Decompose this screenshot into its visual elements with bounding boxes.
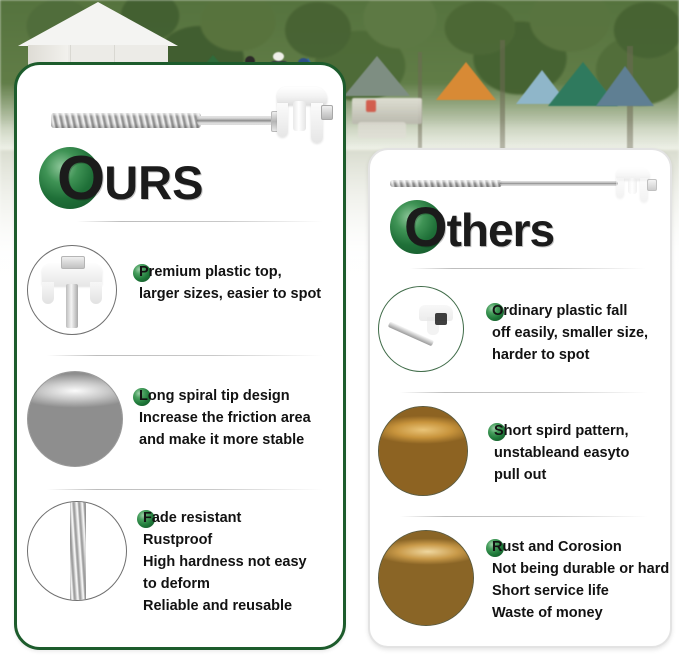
ours-feature-1-text: Premium plastic top, larger sizes, easie… xyxy=(139,264,321,302)
others-feature-1-text: Ordinary plastic fall off easily, smalle… xyxy=(492,303,648,363)
ours-card: OURS Premium plastic top, larger sizes, … xyxy=(14,62,346,650)
ours-title-initial: O xyxy=(57,144,104,213)
section-divider xyxy=(47,489,323,490)
ours-feature-2-text: Long spiral tip design Increase the fric… xyxy=(139,388,311,448)
others-feature-1: Ordinary plastic fall off easily, smalle… xyxy=(378,286,670,372)
others-title: Others xyxy=(390,192,660,260)
ours-title: OURS xyxy=(39,141,319,215)
others-card: Others Ordinary plastic fall off easily,… xyxy=(368,148,672,648)
rust-corrosion-thumbnail xyxy=(378,530,474,626)
camp-gear xyxy=(366,100,376,112)
tent-shape xyxy=(436,62,496,100)
ours-feature-2: Long spiral tip design Increase the fric… xyxy=(27,371,337,467)
others-feature-2: Short spird pattern, unstableand easyto … xyxy=(378,406,670,496)
white-t-handle-top-thumbnail xyxy=(27,245,117,335)
infographic-canvas: OURS Premium plastic top, larger sizes, … xyxy=(0,0,679,667)
tent-shape xyxy=(344,56,410,96)
section-divider xyxy=(400,392,648,393)
others-title-initial: O xyxy=(404,195,447,258)
tent-shape xyxy=(596,66,654,106)
others-feature-2-text: Short spird pattern, unstableand easyto … xyxy=(494,423,629,483)
section-divider xyxy=(410,268,646,269)
section-divider xyxy=(77,221,323,222)
ours-feature-3-text: Fade resistant Rustproof High hardness n… xyxy=(143,510,307,614)
section-divider xyxy=(400,516,648,517)
ours-title-rest: URS xyxy=(104,156,203,209)
spiral-tip-closeup-thumbnail xyxy=(27,371,123,467)
rusted-short-spiral-thumbnail xyxy=(378,406,468,496)
others-feature-3-text: Rust and Corosion Not being durable or h… xyxy=(492,539,669,621)
galvanized-shaft-thumbnail xyxy=(27,501,127,601)
small-plastic-head-thumbnail xyxy=(378,286,464,372)
ours-feature-3: Fade resistant Rustproof High hardness n… xyxy=(27,501,337,617)
others-title-rest: thers xyxy=(447,204,554,256)
others-feature-3: Rust and Corosion Not being durable or h… xyxy=(378,530,672,626)
ours-feature-1: Premium plastic top, larger sizes, easie… xyxy=(27,245,337,335)
section-divider xyxy=(47,355,323,356)
